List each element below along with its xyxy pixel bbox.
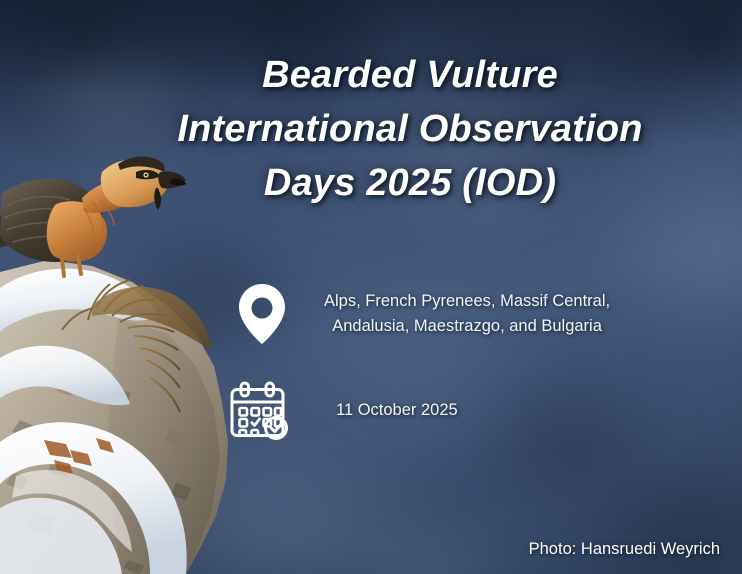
location-line-2: Andalusia, Maestrazgo, and Bulgaria: [324, 314, 610, 339]
date-row: 11 October 2025: [228, 380, 458, 440]
date-text: 11 October 2025: [336, 398, 458, 423]
title-line-1: Bearded Vulture: [160, 48, 660, 102]
location-line-1: Alps, French Pyrenees, Massif Central,: [324, 289, 610, 314]
location-text: Alps, French Pyrenees, Massif Central, A…: [324, 289, 610, 339]
poster-image: Bearded Vulture International Observatio…: [0, 0, 742, 574]
bearded-vulture: [0, 157, 186, 276]
title-line-3: Days 2025 (IOD): [160, 156, 660, 210]
photo-credit: Photo: Hansruedi Weyrich: [529, 538, 720, 560]
location-row: Alps, French Pyrenees, Massif Central, A…: [236, 282, 610, 346]
map-pin-icon: [236, 282, 288, 346]
poster-title: Bearded Vulture International Observatio…: [160, 48, 660, 210]
calendar-check-icon: [228, 380, 292, 440]
calendar-day-check: [252, 419, 260, 426]
title-line-2: International Observation: [160, 102, 660, 156]
